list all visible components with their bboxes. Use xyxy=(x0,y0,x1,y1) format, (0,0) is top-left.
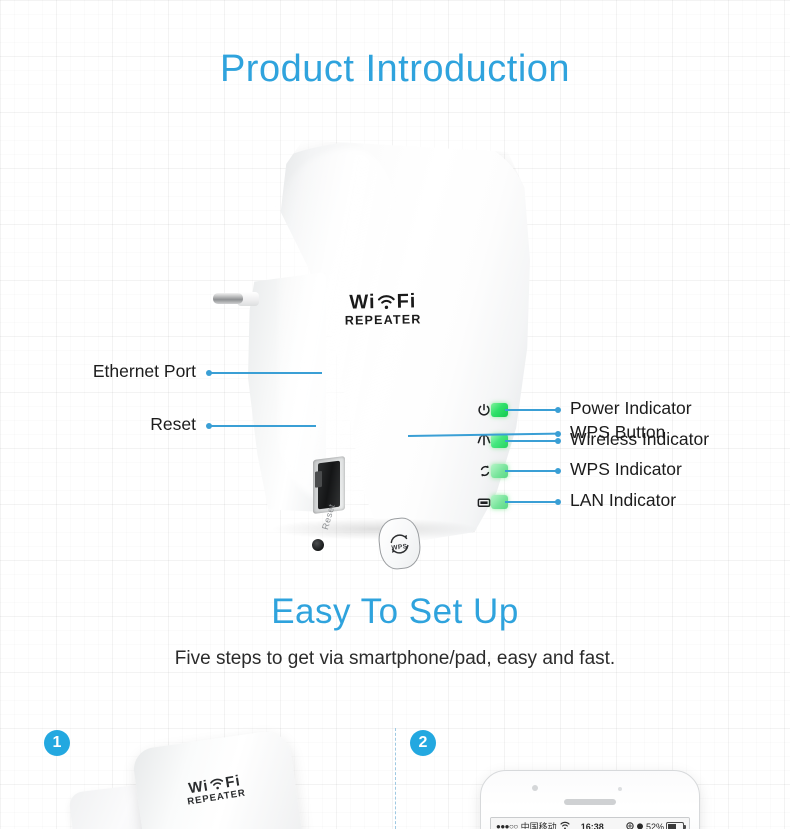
wifi-status-icon xyxy=(560,821,570,829)
prong-pin xyxy=(213,293,243,304)
page-title: Product Introduction xyxy=(0,48,790,91)
callout-label-lan: LAN Indicator xyxy=(570,490,676,511)
brand-wi-text: Wi xyxy=(349,292,376,312)
brand-fi-text: Fi xyxy=(396,291,416,311)
phone-status-bar: ●●●○○ 中国移动 16:38 xyxy=(491,818,689,829)
power-icon xyxy=(477,403,491,417)
phone-screen: ●●●○○ 中国移动 16:38 xyxy=(490,817,690,829)
brand-wifi-line: Wi Fi xyxy=(330,291,436,313)
callout-line-power xyxy=(505,409,558,411)
callout-line-reset xyxy=(209,425,316,427)
callout-label-ethernet: Ethernet Port xyxy=(0,361,196,382)
wifi-arc-icon xyxy=(376,293,395,311)
callout-line-wireless xyxy=(505,440,558,442)
lan-icon xyxy=(477,495,491,509)
product-photo-stage: Wi Fi REPEATER Reset xyxy=(0,120,790,580)
product-introduction-page: Product Introduction Wi Fi xyxy=(0,0,790,829)
reset-pinhole[interactable] xyxy=(312,539,324,551)
alarm-icon xyxy=(636,822,644,829)
setup-steps: 1 Wi Fi REPEATER 2 xyxy=(0,712,790,829)
device-branding: Wi Fi REPEATER xyxy=(330,291,437,328)
callout-line-wps-indicator xyxy=(505,470,558,472)
step-badge-1: 1 xyxy=(44,730,70,756)
step-badge-2: 2 xyxy=(410,730,436,756)
callout-dot-power xyxy=(555,407,561,413)
callout-line-ethernet xyxy=(209,372,322,374)
section-subtitle: Five steps to get via smartphone/pad, ea… xyxy=(0,648,790,670)
step1-wifi-arc-icon xyxy=(208,776,225,792)
step1-device-branding: Wi Fi REPEATER xyxy=(174,771,257,809)
callout-dot-wireless xyxy=(555,438,561,444)
callout-dot-reset xyxy=(206,423,212,429)
callout-line-lan xyxy=(505,501,558,503)
carrier-name: 中国移动 xyxy=(521,820,557,829)
callout-label-wps-indicator: WPS Indicator xyxy=(570,459,682,480)
callout-label-reset: Reset xyxy=(0,414,196,435)
device-drop-shadow xyxy=(270,518,480,540)
battery-icon xyxy=(666,822,684,829)
wps-icon xyxy=(478,464,492,478)
power-plug-prong xyxy=(213,292,257,306)
callout-label-wps-button: WPS Button xyxy=(570,422,665,443)
callout-dot-lan xyxy=(555,499,561,505)
step1-device-front: Wi Fi REPEATER xyxy=(131,729,303,829)
status-bar-time: 16:38 xyxy=(581,822,604,829)
brand-repeater-text: REPEATER xyxy=(330,312,436,328)
phone-front-camera xyxy=(532,785,538,791)
callout-label-power: Power Indicator xyxy=(570,398,692,419)
smartphone-mockup: ●●●○○ 中国移动 16:38 xyxy=(480,770,700,829)
location-services-icon xyxy=(626,822,634,829)
callout-dot-wps-indicator xyxy=(555,468,561,474)
phone-sensor xyxy=(618,787,622,791)
step-divider xyxy=(395,728,396,829)
callout-dot-ethernet xyxy=(206,370,212,376)
ethernet-port-tab xyxy=(315,471,322,488)
section-title: Easy To Set Up xyxy=(0,592,790,632)
phone-earpiece-speaker xyxy=(564,799,616,805)
status-bar-right-group: 52% xyxy=(626,822,684,829)
signal-strength-icon: ●●●○○ xyxy=(496,822,518,829)
battery-percent: 52% xyxy=(646,822,664,829)
callout-dot-wps-button xyxy=(555,431,561,437)
